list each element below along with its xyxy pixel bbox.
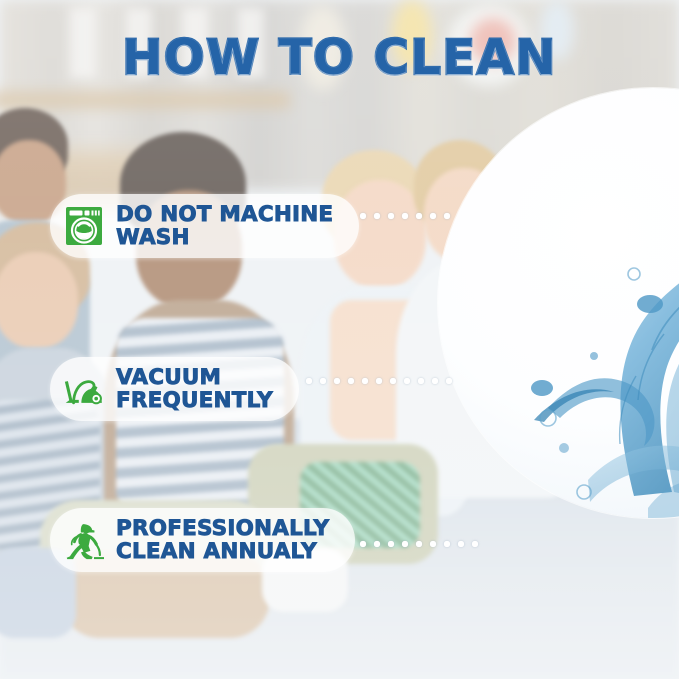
badge-professionally-clean-annualy[interactable]: PROFESSIONALLY CLEAN ANNUALY bbox=[50, 508, 355, 572]
water-splash-circle bbox=[438, 88, 679, 518]
dotted-connector-1 bbox=[356, 212, 451, 220]
shelf-edge bbox=[0, 92, 290, 108]
badge-label: PROFESSIONALLY CLEAN ANNUALY bbox=[116, 517, 329, 563]
infographic-card: HOW TO CLEAN DO NOT MACHINE WASH bbox=[0, 0, 679, 679]
child-face bbox=[0, 252, 78, 348]
vacuum-cleaner-icon bbox=[64, 368, 104, 410]
water-splash-graphic bbox=[438, 88, 679, 518]
dotted-connector-2 bbox=[302, 377, 454, 385]
professional-cleaner-icon bbox=[64, 519, 104, 561]
page-title: HOW TO CLEAN bbox=[0, 30, 679, 86]
badge-do-not-machine-wash[interactable]: DO NOT MACHINE WASH bbox=[50, 194, 359, 258]
dotted-connector-3 bbox=[356, 540, 482, 548]
badge-label: VACUUM FREQUENTLY bbox=[116, 366, 273, 412]
badge-vacuum-frequently[interactable]: VACUUM FREQUENTLY bbox=[50, 357, 299, 421]
washing-machine-icon bbox=[64, 205, 104, 247]
badge-label: DO NOT MACHINE WASH bbox=[116, 203, 333, 249]
